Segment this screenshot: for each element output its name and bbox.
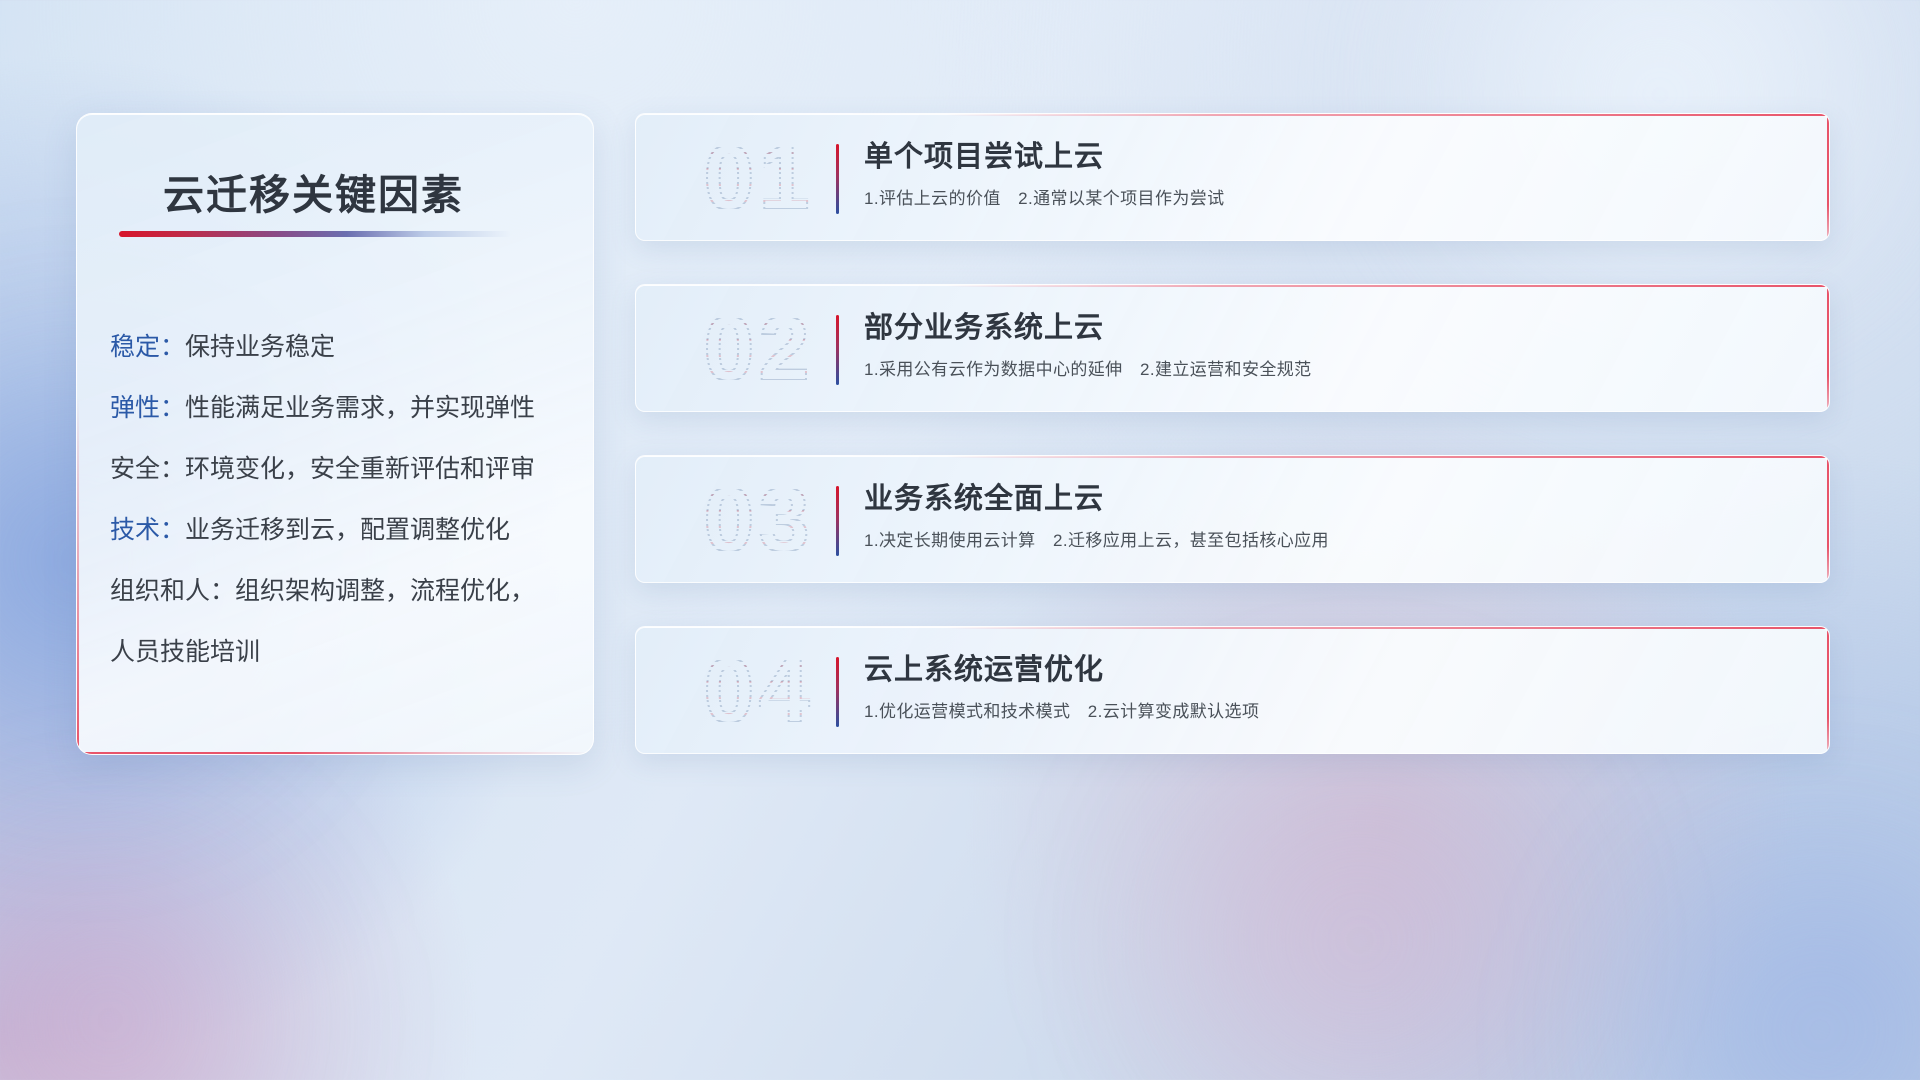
stage-divider-bar	[836, 657, 839, 727]
stage-card-04[interactable]: 04 04 云上系统运营优化 1.优化运营模式和技术模式 2.云计算变成默认选项	[635, 626, 1830, 754]
factor-text: 性能满足业务需求，并实现弹性	[185, 394, 535, 422]
card-accent-right-border	[1827, 627, 1829, 753]
factor-text: 业务迁移到云，配置调整优化	[185, 516, 510, 544]
factor-label: 稳定：	[110, 333, 185, 361]
stage-divider-bar	[836, 315, 839, 385]
stage-title: 业务系统全面上云	[864, 478, 1793, 520]
card-accent-top-border	[946, 285, 1829, 287]
list-item: 弹性：性能满足业务需求，并实现弹性	[110, 378, 580, 439]
factor-label: 弹性：	[110, 394, 185, 422]
factor-label: 安全：	[110, 455, 185, 483]
stage-cards: 01 01 单个项目尝试上云 1.评估上云的价值 2.通常以某个项目作为尝试 0…	[635, 113, 1830, 797]
list-item: 技术：业务迁移到云，配置调整优化	[110, 500, 580, 561]
stage-subtitle: 1.优化运营模式和技术模式 2.云计算变成默认选项	[864, 700, 1793, 724]
card-accent-top-border	[946, 627, 1829, 629]
stage-number-hatch-overlay: 04	[666, 635, 851, 747]
stage-content: 业务系统全面上云 1.决定长期使用云计算 2.迁移应用上云，甚至包括核心应用	[864, 478, 1793, 553]
factor-text: 保持业务稳定	[185, 333, 335, 361]
list-item: 组织和人：组织架构调整，流程优化，	[110, 561, 580, 622]
stage-card-02[interactable]: 02 02 部分业务系统上云 1.采用公有云作为数据中心的延伸 2.建立运营和安…	[635, 284, 1830, 412]
card-accent-top-border	[946, 114, 1829, 116]
stage-title: 云上系统运营优化	[864, 649, 1793, 691]
stage-card-01[interactable]: 01 01 单个项目尝试上云 1.评估上云的价值 2.通常以某个项目作为尝试	[635, 113, 1830, 241]
stage-divider-bar	[836, 144, 839, 214]
background-glow-bottom-left	[0, 820, 340, 1080]
stage-subtitle: 1.评估上云的价值 2.通常以某个项目作为尝试	[864, 187, 1793, 211]
stage-number-hatch-overlay: 02	[666, 293, 851, 405]
stage-content: 云上系统运营优化 1.优化运营模式和技术模式 2.云计算变成默认选项	[864, 649, 1793, 724]
title-underline-rule	[119, 231, 511, 237]
stage-content: 部分业务系统上云 1.采用公有云作为数据中心的延伸 2.建立运营和安全规范	[864, 307, 1793, 382]
list-item: 稳定：保持业务稳定	[110, 317, 580, 378]
factor-label: 技术：	[110, 516, 185, 544]
stage-number-hatch-overlay: 03	[666, 464, 851, 576]
list-item: 人员技能培训	[110, 622, 580, 683]
card-accent-top-border	[946, 456, 1829, 458]
list-item: 安全：环境变化，安全重新评估和评审	[110, 439, 580, 500]
stage-subtitle: 1.采用公有云作为数据中心的延伸 2.建立运营和安全规范	[864, 358, 1793, 382]
stage-title: 部分业务系统上云	[864, 307, 1793, 349]
background-glow-bottom-right	[1560, 820, 1920, 1080]
factor-text: 人员技能培训	[110, 638, 260, 666]
stage-content: 单个项目尝试上云 1.评估上云的价值 2.通常以某个项目作为尝试	[864, 136, 1793, 211]
stage-subtitle: 1.决定长期使用云计算 2.迁移应用上云，甚至包括核心应用	[864, 529, 1793, 553]
card-accent-right-border	[1827, 114, 1829, 240]
key-factors-panel: 云迁移关键因素 稳定：保持业务稳定 弹性：性能满足业务需求，并实现弹性 安全：环…	[76, 113, 594, 755]
stage-title: 单个项目尝试上云	[864, 136, 1793, 178]
stage-divider-bar	[836, 486, 839, 556]
page-title: 云迁移关键因素	[163, 161, 563, 221]
card-accent-right-border	[1827, 456, 1829, 582]
key-factors-list: 稳定：保持业务稳定 弹性：性能满足业务需求，并实现弹性 安全：环境变化，安全重新…	[110, 317, 580, 683]
card-accent-right-border	[1827, 285, 1829, 411]
factor-label: 组织和人：	[110, 577, 235, 605]
factor-text: 组织架构调整，流程优化，	[235, 577, 535, 605]
stage-number-hatch-overlay: 01	[666, 122, 851, 234]
stage-card-03[interactable]: 03 03 业务系统全面上云 1.决定长期使用云计算 2.迁移应用上云，甚至包括…	[635, 455, 1830, 583]
factor-text: 环境变化，安全重新评估和评审	[185, 455, 535, 483]
